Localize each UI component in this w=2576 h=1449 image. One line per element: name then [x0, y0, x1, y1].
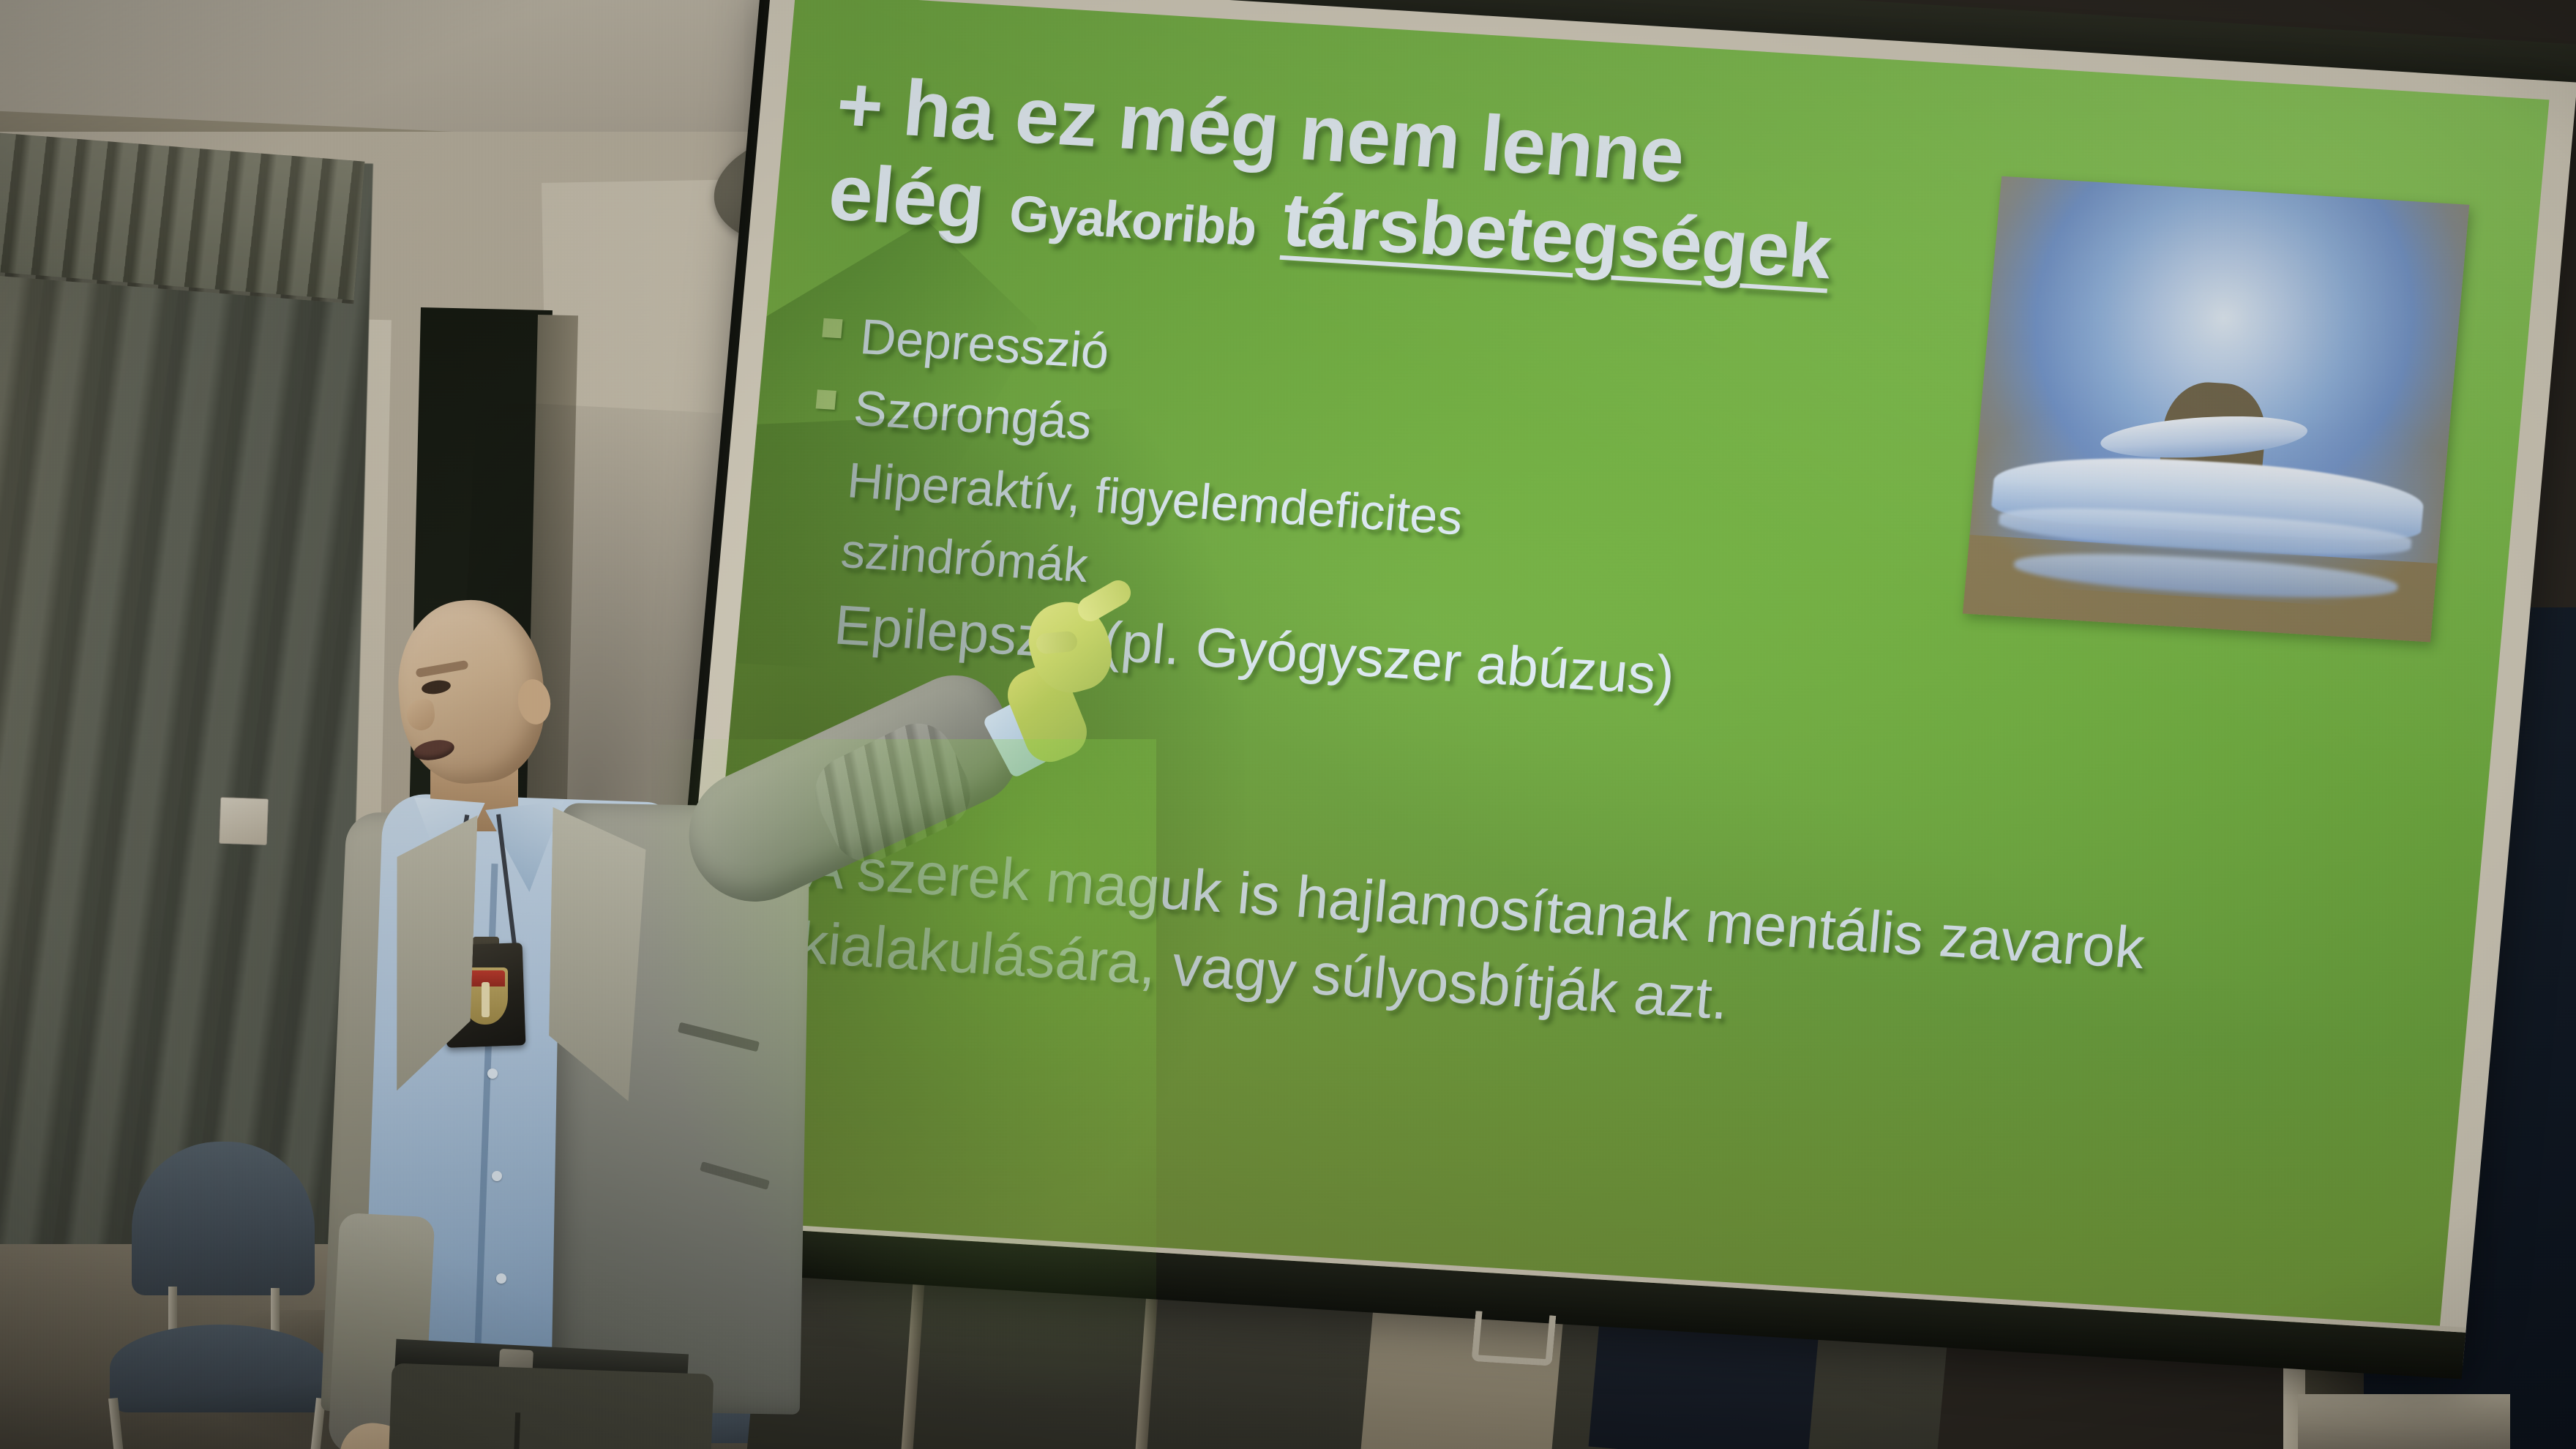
bullet-marker-icon	[822, 318, 842, 338]
slide-image	[1963, 176, 2469, 643]
shirt-button	[492, 1171, 502, 1181]
slide-title-eleg: elég	[825, 148, 989, 245]
curtain-valance	[0, 132, 364, 304]
screen-pull-handle-icon[interactable]	[1471, 1311, 1556, 1366]
slide-title-gyakoribb: Gyakoribb	[1006, 184, 1258, 263]
badge-crest-emblem	[482, 982, 490, 1017]
shirt-button	[496, 1273, 506, 1284]
bullet-text: Depresszió	[858, 304, 1112, 384]
wall-switch[interactable]	[219, 797, 269, 845]
presenter	[263, 556, 1112, 1449]
trousers	[370, 1363, 714, 1449]
bullet-text: Szorongás	[851, 376, 1094, 455]
shirt-button	[487, 1068, 498, 1079]
photo-scene: + ha ez még nem lenne elég Gyakoribb tár…	[0, 0, 2576, 1449]
bullet-marker-icon	[816, 390, 836, 410]
